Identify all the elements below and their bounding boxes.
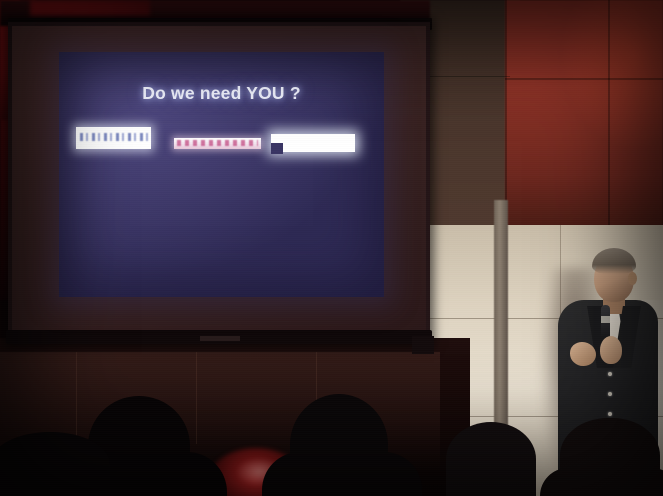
logo-box-left-text <box>80 133 148 141</box>
jacket-button <box>608 412 612 416</box>
foreground-seam <box>76 352 77 448</box>
logo-box-right <box>271 134 355 152</box>
wall-seam <box>608 0 610 248</box>
jacket-button <box>608 372 612 376</box>
speaker-ear <box>628 272 637 285</box>
logo-box-left <box>76 127 151 149</box>
microphone-band <box>601 316 610 323</box>
foreground-seam <box>196 352 197 444</box>
jacket-button <box>608 392 612 396</box>
logo-box-right-notch <box>271 143 283 154</box>
presentation-photo-scene: Do we need YOU ? <box>0 0 663 496</box>
wall-top-red-glow <box>30 0 150 16</box>
audience-head <box>290 394 388 496</box>
audience-head <box>446 422 536 496</box>
audience-head <box>560 418 660 496</box>
screen-bottom-tab <box>200 336 240 341</box>
wall-seam <box>505 78 663 80</box>
speaker-hand-mic <box>600 336 622 364</box>
logo-box-center-text <box>177 140 258 146</box>
speaker-hand <box>570 342 596 366</box>
logo-box-center <box>174 138 261 149</box>
screen-bottom-edge <box>412 336 434 354</box>
audience-head <box>0 432 110 496</box>
slide-title: Do we need YOU ? <box>59 83 384 104</box>
red-light-glow <box>560 0 663 150</box>
